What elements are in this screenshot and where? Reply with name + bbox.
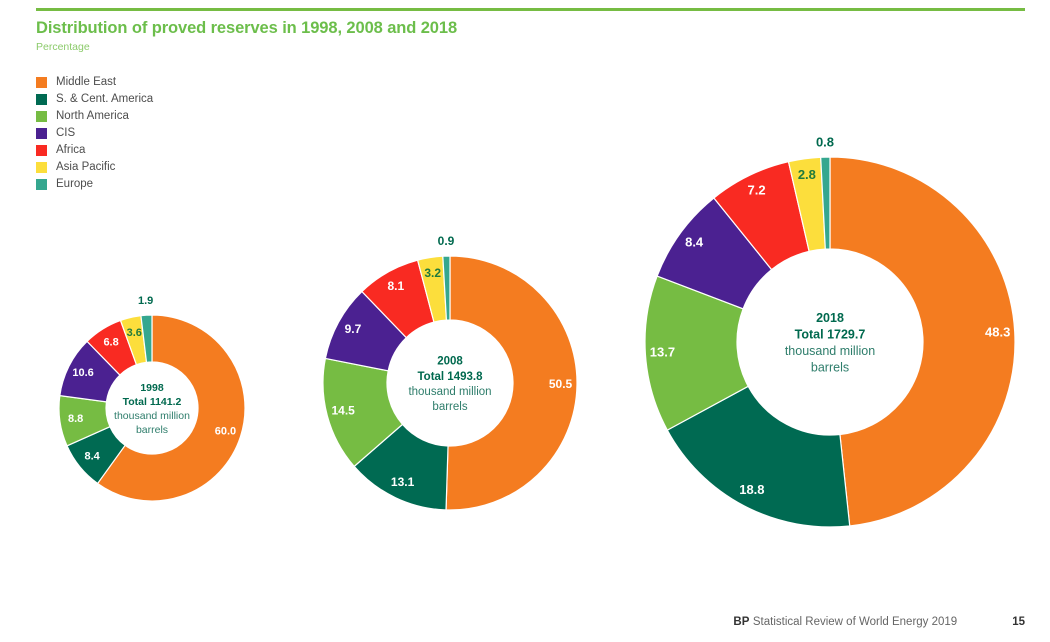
donut-charts-container: 60.08.48.810.66.83.61.91998Total 1141.2t… — [0, 0, 1050, 642]
slice-value-label: 10.6 — [72, 367, 93, 379]
slice-value-label: 0.8 — [816, 135, 834, 150]
slice-value-label: 48.3 — [985, 324, 1010, 339]
center-year: 2018 — [816, 311, 844, 325]
donut-center — [387, 320, 513, 446]
center-unit-line1: thousand million — [408, 386, 491, 398]
donut-chart-2008: 50.513.114.59.78.13.20.92008Total 1493.8… — [277, 210, 623, 556]
slice-value-label: 3.2 — [424, 266, 441, 280]
slice-value-label: 8.1 — [387, 279, 404, 293]
slice-value-label: 18.8 — [739, 482, 764, 497]
slice-value-label: 8.4 — [84, 451, 100, 463]
slice-value-label: 7.2 — [748, 182, 766, 197]
slice-value-label: 14.5 — [331, 404, 355, 418]
donut-chart-1998: 60.08.48.810.66.83.61.91998Total 1141.2t… — [13, 269, 291, 547]
center-total: Total 1729.7 — [795, 328, 866, 342]
slice-value-label: 9.7 — [345, 322, 362, 336]
donut-chart-2018: 48.318.813.78.47.22.80.82018Total 1729.7… — [599, 111, 1050, 573]
slice-value-label: 60.0 — [215, 426, 236, 438]
center-unit-line1: thousand million — [785, 344, 875, 358]
footer: BP Statistical Review of World Energy 20… — [605, 616, 1025, 628]
center-year: 2008 — [437, 356, 463, 368]
slice-value-label: 50.5 — [549, 377, 573, 391]
page-number: 15 — [1012, 616, 1025, 628]
slice-value-label: 8.8 — [68, 413, 83, 425]
slice-value-label: 8.4 — [685, 235, 704, 250]
slice-value-label: 13.7 — [650, 345, 675, 360]
slice-value-label: 13.1 — [391, 475, 415, 489]
slice-value-label: 6.8 — [103, 336, 118, 348]
slice-value-label: 3.6 — [127, 327, 142, 339]
center-unit-line2: barrels — [811, 361, 849, 375]
slice-value-label: 1.9 — [138, 295, 153, 307]
center-total: Total 1493.8 — [418, 371, 484, 383]
center-year: 1998 — [140, 382, 164, 394]
footer-source-text: Statistical Review of World Energy 2019 — [753, 616, 957, 628]
slice-value-label: 0.9 — [438, 234, 455, 248]
center-unit-line1: thousand million — [114, 410, 190, 422]
center-unit-line2: barrels — [136, 424, 168, 436]
center-total: Total 1141.2 — [123, 396, 182, 408]
slice-value-label: 2.8 — [798, 167, 816, 182]
donut-center — [737, 249, 923, 435]
footer-brand: BP — [733, 616, 749, 628]
center-unit-line2: barrels — [432, 401, 467, 413]
